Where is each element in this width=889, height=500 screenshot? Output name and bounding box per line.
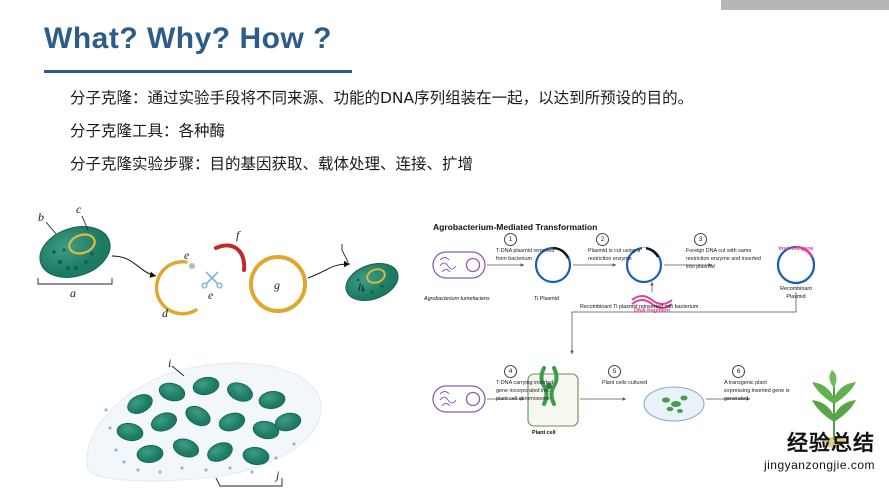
cloning-workflow-svg xyxy=(20,200,420,490)
label-a: a xyxy=(70,286,76,301)
petri-dish xyxy=(644,387,704,421)
insert-fragment xyxy=(216,245,244,270)
slide-root: What? Why? How ? 分子克隆：通过实验手段将不同来源、功能的DNA… xyxy=(0,0,889,500)
reinsert-label: Recombinant Ti plasmid reinserted into b… xyxy=(580,304,698,310)
label-f: f xyxy=(236,228,239,243)
agrobacterium-cell-2 xyxy=(433,386,485,412)
top-right-tab xyxy=(721,0,889,10)
step-caption-1: T-DNA plasmid removed from bacterium xyxy=(496,248,566,264)
label-j: j xyxy=(276,468,279,483)
recombinant-plasmid-label: Recombinant Plasmid xyxy=(772,286,820,301)
watermark-sub: jingyanzongjie.com xyxy=(764,458,875,472)
label-i: i xyxy=(168,356,171,371)
label-b: b xyxy=(38,210,44,225)
label-c: c xyxy=(76,202,81,217)
step-caption-3: Foreign DNA cut with same restriction en… xyxy=(686,248,764,271)
cloning-workflow-figure: c b a d e e f g h i j xyxy=(20,200,420,490)
step-caption-4: T-DNA carrying inserted gene incorporate… xyxy=(496,380,558,403)
ti-plasmid-label: Ti Plasmid xyxy=(534,296,559,302)
label-d: d xyxy=(162,306,168,321)
step-caption-6: A transgenic plant expressing inserted g… xyxy=(724,380,794,403)
scissors-icon xyxy=(202,272,222,288)
label-h: h xyxy=(358,280,364,295)
body-line-3: 分子克隆实验步骤：目的基因获取、载体处理、连接、扩增 xyxy=(70,152,870,176)
page-title: What? Why? How ? xyxy=(44,22,332,56)
step-caption-2: Plasmid is cut using a restriction enzym… xyxy=(588,248,658,264)
step-number-4: 4 xyxy=(504,365,517,378)
step-number-3: 3 xyxy=(694,233,707,246)
agrobacterium-cell xyxy=(433,252,485,278)
recombinant-plasmid xyxy=(778,247,814,283)
bacterium-transformed xyxy=(341,244,403,307)
watermark: 经验总结 jingyanzongjie.com xyxy=(764,427,875,472)
step-number-5: 5 xyxy=(608,365,621,378)
bacteria-culture xyxy=(87,363,321,486)
plant-cell-label: Plant cell xyxy=(532,430,556,436)
label-g: g xyxy=(274,278,280,293)
inserted-gene-label: Inserted gene xyxy=(774,246,818,252)
agrobacterium-label: Agrobacterium tumefaciens xyxy=(424,296,490,302)
label-e-top: e xyxy=(184,248,189,263)
body-line-2: 分子克隆工具：各种酶 xyxy=(70,119,870,143)
watermark-main: 经验总结 xyxy=(764,427,875,457)
bacterium-large xyxy=(33,216,116,286)
step-number-2: 2 xyxy=(596,233,609,246)
body-line-1: 分子克隆：通过实验手段将不同来源、功能的DNA序列组装在一起，以达到所预设的目的… xyxy=(70,86,870,110)
body-text: 分子克隆：通过实验手段将不同来源、功能的DNA序列组装在一起，以达到所预设的目的… xyxy=(70,86,870,185)
agro-diagram-title: Agrobacterium-Mediated Transformation xyxy=(433,222,597,232)
step-number-6: 6 xyxy=(732,365,745,378)
title-underline xyxy=(44,70,352,73)
label-e-bottom: e xyxy=(208,288,213,303)
step-number-1: 1 xyxy=(504,233,517,246)
step-caption-5: Plant cells cultured xyxy=(602,380,664,388)
